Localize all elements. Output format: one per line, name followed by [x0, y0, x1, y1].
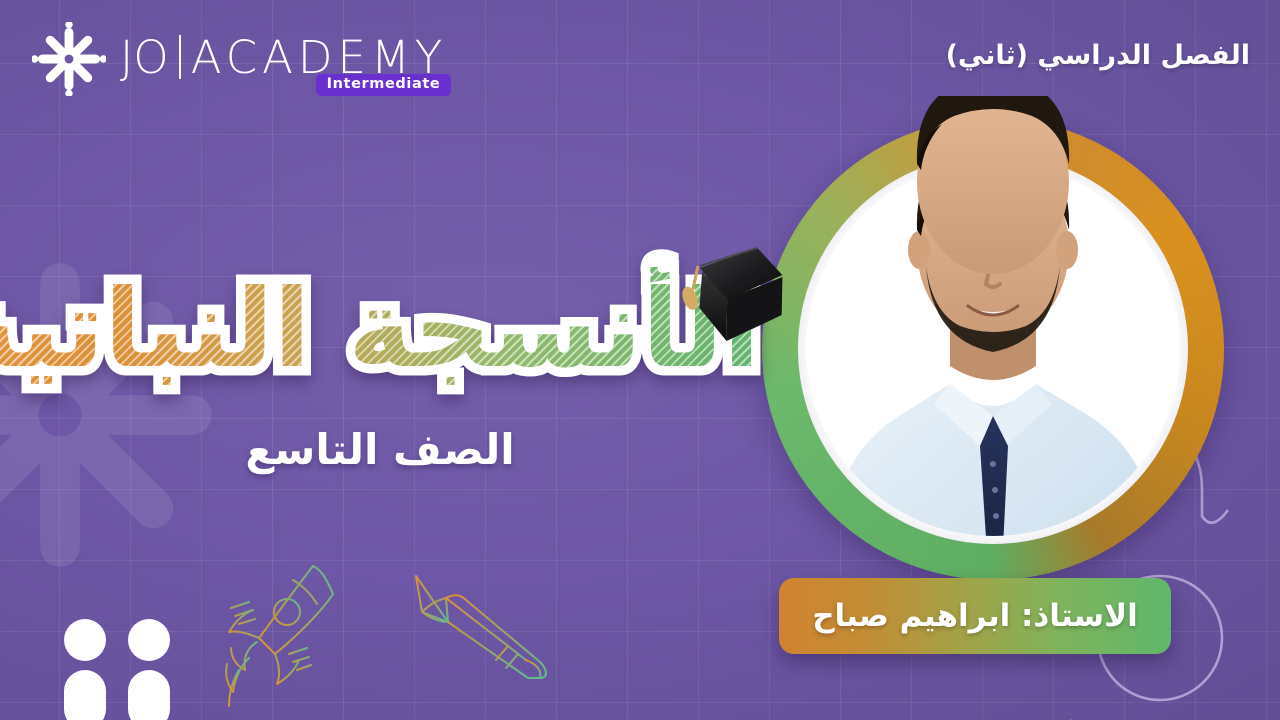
joacademy-starburst-icon: [32, 22, 106, 96]
lesson-title-card: JO ACADEMY Intermediate الفصل الدراسي (ث…: [0, 0, 1280, 720]
teacher-name-label: الاستاذ: ابراهيم صباح: [812, 598, 1138, 634]
teacher-name-banner: الاستاذ: ابراهيم صباح: [779, 578, 1171, 654]
semester-label: الفصل الدراسي (ثاني): [946, 40, 1250, 71]
lesson-title: الأنسجة النباتية الأنسجة النباتية: [0, 272, 760, 389]
brand-divider: [179, 35, 181, 79]
rocket-icon: [215, 562, 345, 712]
lesson-title-text: الأنسجة النباتية: [0, 267, 760, 392]
brand-logo[interactable]: JO ACADEMY Intermediate: [32, 22, 447, 96]
brand-level-badge: Intermediate: [316, 74, 452, 96]
brand-name-academy: ACADEMY: [191, 35, 448, 80]
brand-name-jo: JO: [120, 35, 169, 80]
pencil-icon: [408, 560, 563, 680]
people-icon: [52, 618, 182, 720]
grade-label: الصف التاسع: [0, 425, 760, 474]
teacher-photo: [806, 162, 1180, 536]
teacher-portrait: [762, 118, 1224, 580]
graduation-cap-icon: [661, 241, 790, 350]
